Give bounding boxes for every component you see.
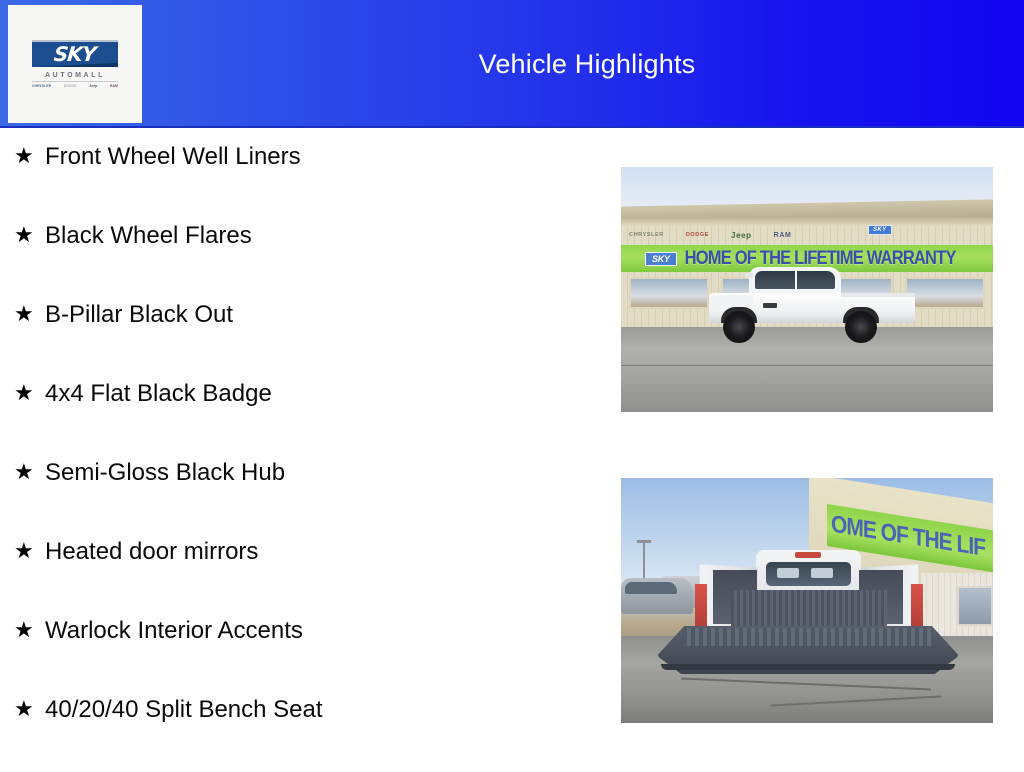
highlight-text: 4x4 Flat Black Badge [45,377,272,411]
star-bullet-icon: ★ [14,377,45,411]
truck-hood [709,295,753,307]
chrysler-brand-icon: CHRYSLER [32,85,51,88]
truck-bed-rail [841,293,915,297]
list-item: ★ 40/20/40 Split Bench Seat [0,693,600,772]
facade-sky-tag: SKY [868,225,892,235]
tail-light-right [911,584,923,628]
highlight-text: B-Pillar Black Out [45,298,233,332]
list-item: ★ Semi-Gloss Black Hub [0,456,600,535]
highlight-text: 40/20/40 Split Bench Seat [45,693,323,727]
dealership-eave [621,217,993,226]
logo-plate: SKY [32,40,118,67]
highlight-text: Heated door mirrors [45,535,258,569]
rear-wheel [845,311,877,343]
star-bullet-icon: ★ [14,298,45,332]
logo-divider [32,81,118,82]
truck-b-pillar [795,271,797,289]
parked-car-window [625,582,677,594]
vehicle-photo-side[interactable]: CHRYSLER DODGE Jeep RAM SKY SKY HOME OF … [621,167,993,412]
rear-window-pane [777,568,799,578]
star-bullet-icon: ★ [14,614,45,648]
truck-side-profile [691,267,931,339]
highlight-text: Warlock Interior Accents [45,614,303,648]
star-bullet-icon: ★ [14,140,45,174]
front-wheel [723,311,755,343]
vehicle-highlights-list: ★ Front Wheel Well Liners ★ Black Wheel … [0,140,600,772]
logo-wordmark: SKY [53,44,96,64]
jeep-brand-icon: Jeep [89,85,97,88]
list-item: ★ Warlock Interior Accents [0,614,600,693]
ram-brand-icon: RAM [110,85,118,88]
facade-ram-icon: RAM [774,232,792,239]
list-item: ★ B-Pillar Black Out [0,298,600,377]
highlight-text: Front Wheel Well Liners [45,140,301,174]
rear-window-pane [811,568,833,578]
sky-automall-logo: SKY AUTOMALL CHRYSLER DODGE Jeep RAM [8,5,142,123]
banner-sky-logo: SKY [645,252,677,266]
list-item: ★ 4x4 Flat Black Badge [0,377,600,456]
facade-dodge-icon: DODGE [686,232,709,238]
star-bullet-icon: ★ [14,535,45,569]
parking-lot [621,327,993,412]
page-title: Vehicle Highlights [150,0,1024,128]
list-item: ★ Heated door mirrors [0,535,600,614]
tail-light-left [695,584,707,628]
facade-jeep-icon: Jeep [731,231,752,240]
highlight-text: Semi-Gloss Black Hub [45,456,285,490]
vehicle-photo-bed[interactable]: OME OF THE LIF [621,478,993,723]
tailgate-edge [661,664,955,670]
truck-door-badge [763,303,777,308]
third-brake-light [795,552,821,558]
logo-subtitle: AUTOMALL [32,72,118,79]
list-item: ★ Black Wheel Flares [0,219,600,298]
window-pane [957,586,993,626]
list-item: ★ Front Wheel Well Liners [0,140,600,219]
star-bullet-icon: ★ [14,219,45,253]
dodge-brand-icon: DODGE [64,85,77,88]
facade-chrysler-icon: CHRYSLER [629,232,664,238]
truck-door-mirror [745,273,753,278]
logo-brand-row: CHRYSLER DODGE Jeep RAM [32,85,118,88]
logo-inner: SKY AUTOMALL CHRYSLER DODGE Jeep RAM [32,40,118,88]
star-bullet-icon: ★ [14,693,45,727]
star-bullet-icon: ★ [14,456,45,490]
highlight-text: Black Wheel Flares [45,219,252,253]
tailgate-grid [683,628,933,646]
